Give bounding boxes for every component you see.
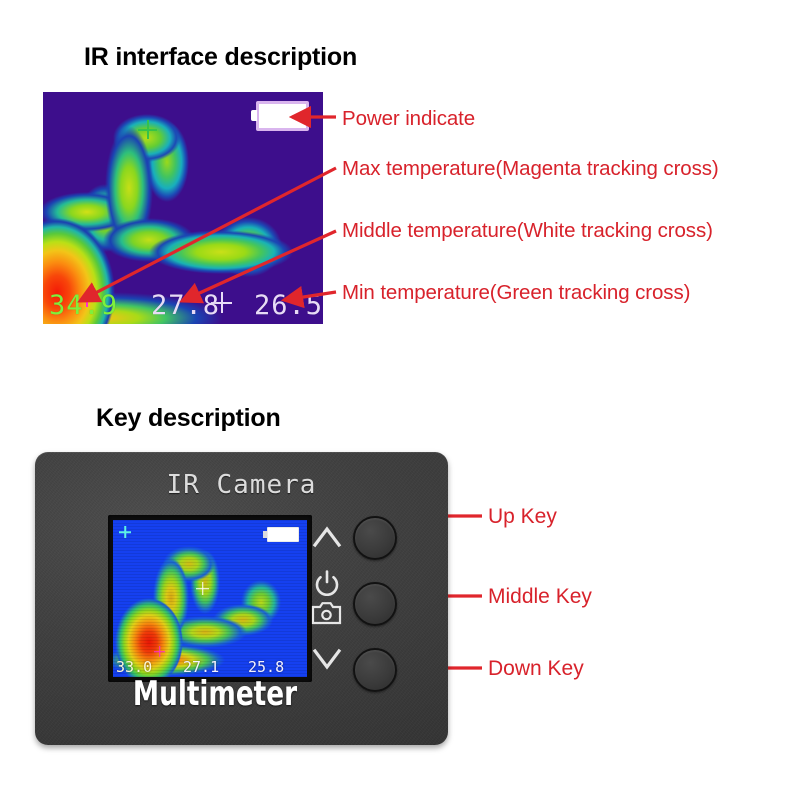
down-button[interactable] xyxy=(353,648,397,692)
annotation-power-indicate: Power indicate xyxy=(342,107,475,131)
magenta-cross-icon xyxy=(154,646,165,657)
middle-button[interactable] xyxy=(353,582,397,626)
page-root: IR interface description 34.9 27.8 26.5 xyxy=(0,0,800,800)
max-temp-value: 34.9 xyxy=(49,289,118,323)
middle-temp-value: 27.8 xyxy=(151,289,220,323)
up-button[interactable] xyxy=(353,516,397,560)
ir-section-heading: IR interface description xyxy=(84,43,357,72)
device-lcd-screen: 33.0 27.1 25.8 xyxy=(113,520,307,677)
annotation-up-key: Up Key xyxy=(488,505,557,529)
annotation-middle-temperature: Middle temperature(White tracking cross) xyxy=(342,219,713,243)
ir-temperature-readouts: 34.9 27.8 26.5 xyxy=(43,289,323,323)
annotation-down-key: Down Key xyxy=(488,657,584,681)
battery-nub xyxy=(263,531,267,538)
annotation-max-temperature: Max temperature(Magenta tracking cross) xyxy=(342,157,719,181)
battery-nub xyxy=(251,110,257,121)
min-temp-value: 26.5 xyxy=(254,289,323,323)
cyan-cross-icon xyxy=(119,526,131,538)
key-section-heading: Key description xyxy=(96,404,281,433)
device-lcd-frame: 33.0 27.1 25.8 xyxy=(108,515,312,682)
annotation-min-temperature: Min temperature(Green tracking cross) xyxy=(342,281,690,305)
power-icon xyxy=(314,570,340,596)
battery-icon xyxy=(267,527,299,542)
battery-icon xyxy=(256,101,309,131)
device-brand-bottom: Multimeter xyxy=(120,674,309,714)
annotation-middle-key: Middle Key xyxy=(488,585,592,609)
white-cross-icon xyxy=(196,582,209,595)
ir-camera-device: IR Camera 33.0 27.1 25.8 xyxy=(35,452,448,745)
chevron-down-icon xyxy=(312,648,342,672)
camera-icon xyxy=(311,600,342,626)
device-brand-top: IR Camera xyxy=(35,470,448,500)
ir-thermal-image: 34.9 27.8 26.5 xyxy=(43,92,323,324)
lcd-scanlines xyxy=(113,520,307,677)
chevron-up-icon xyxy=(312,524,342,548)
